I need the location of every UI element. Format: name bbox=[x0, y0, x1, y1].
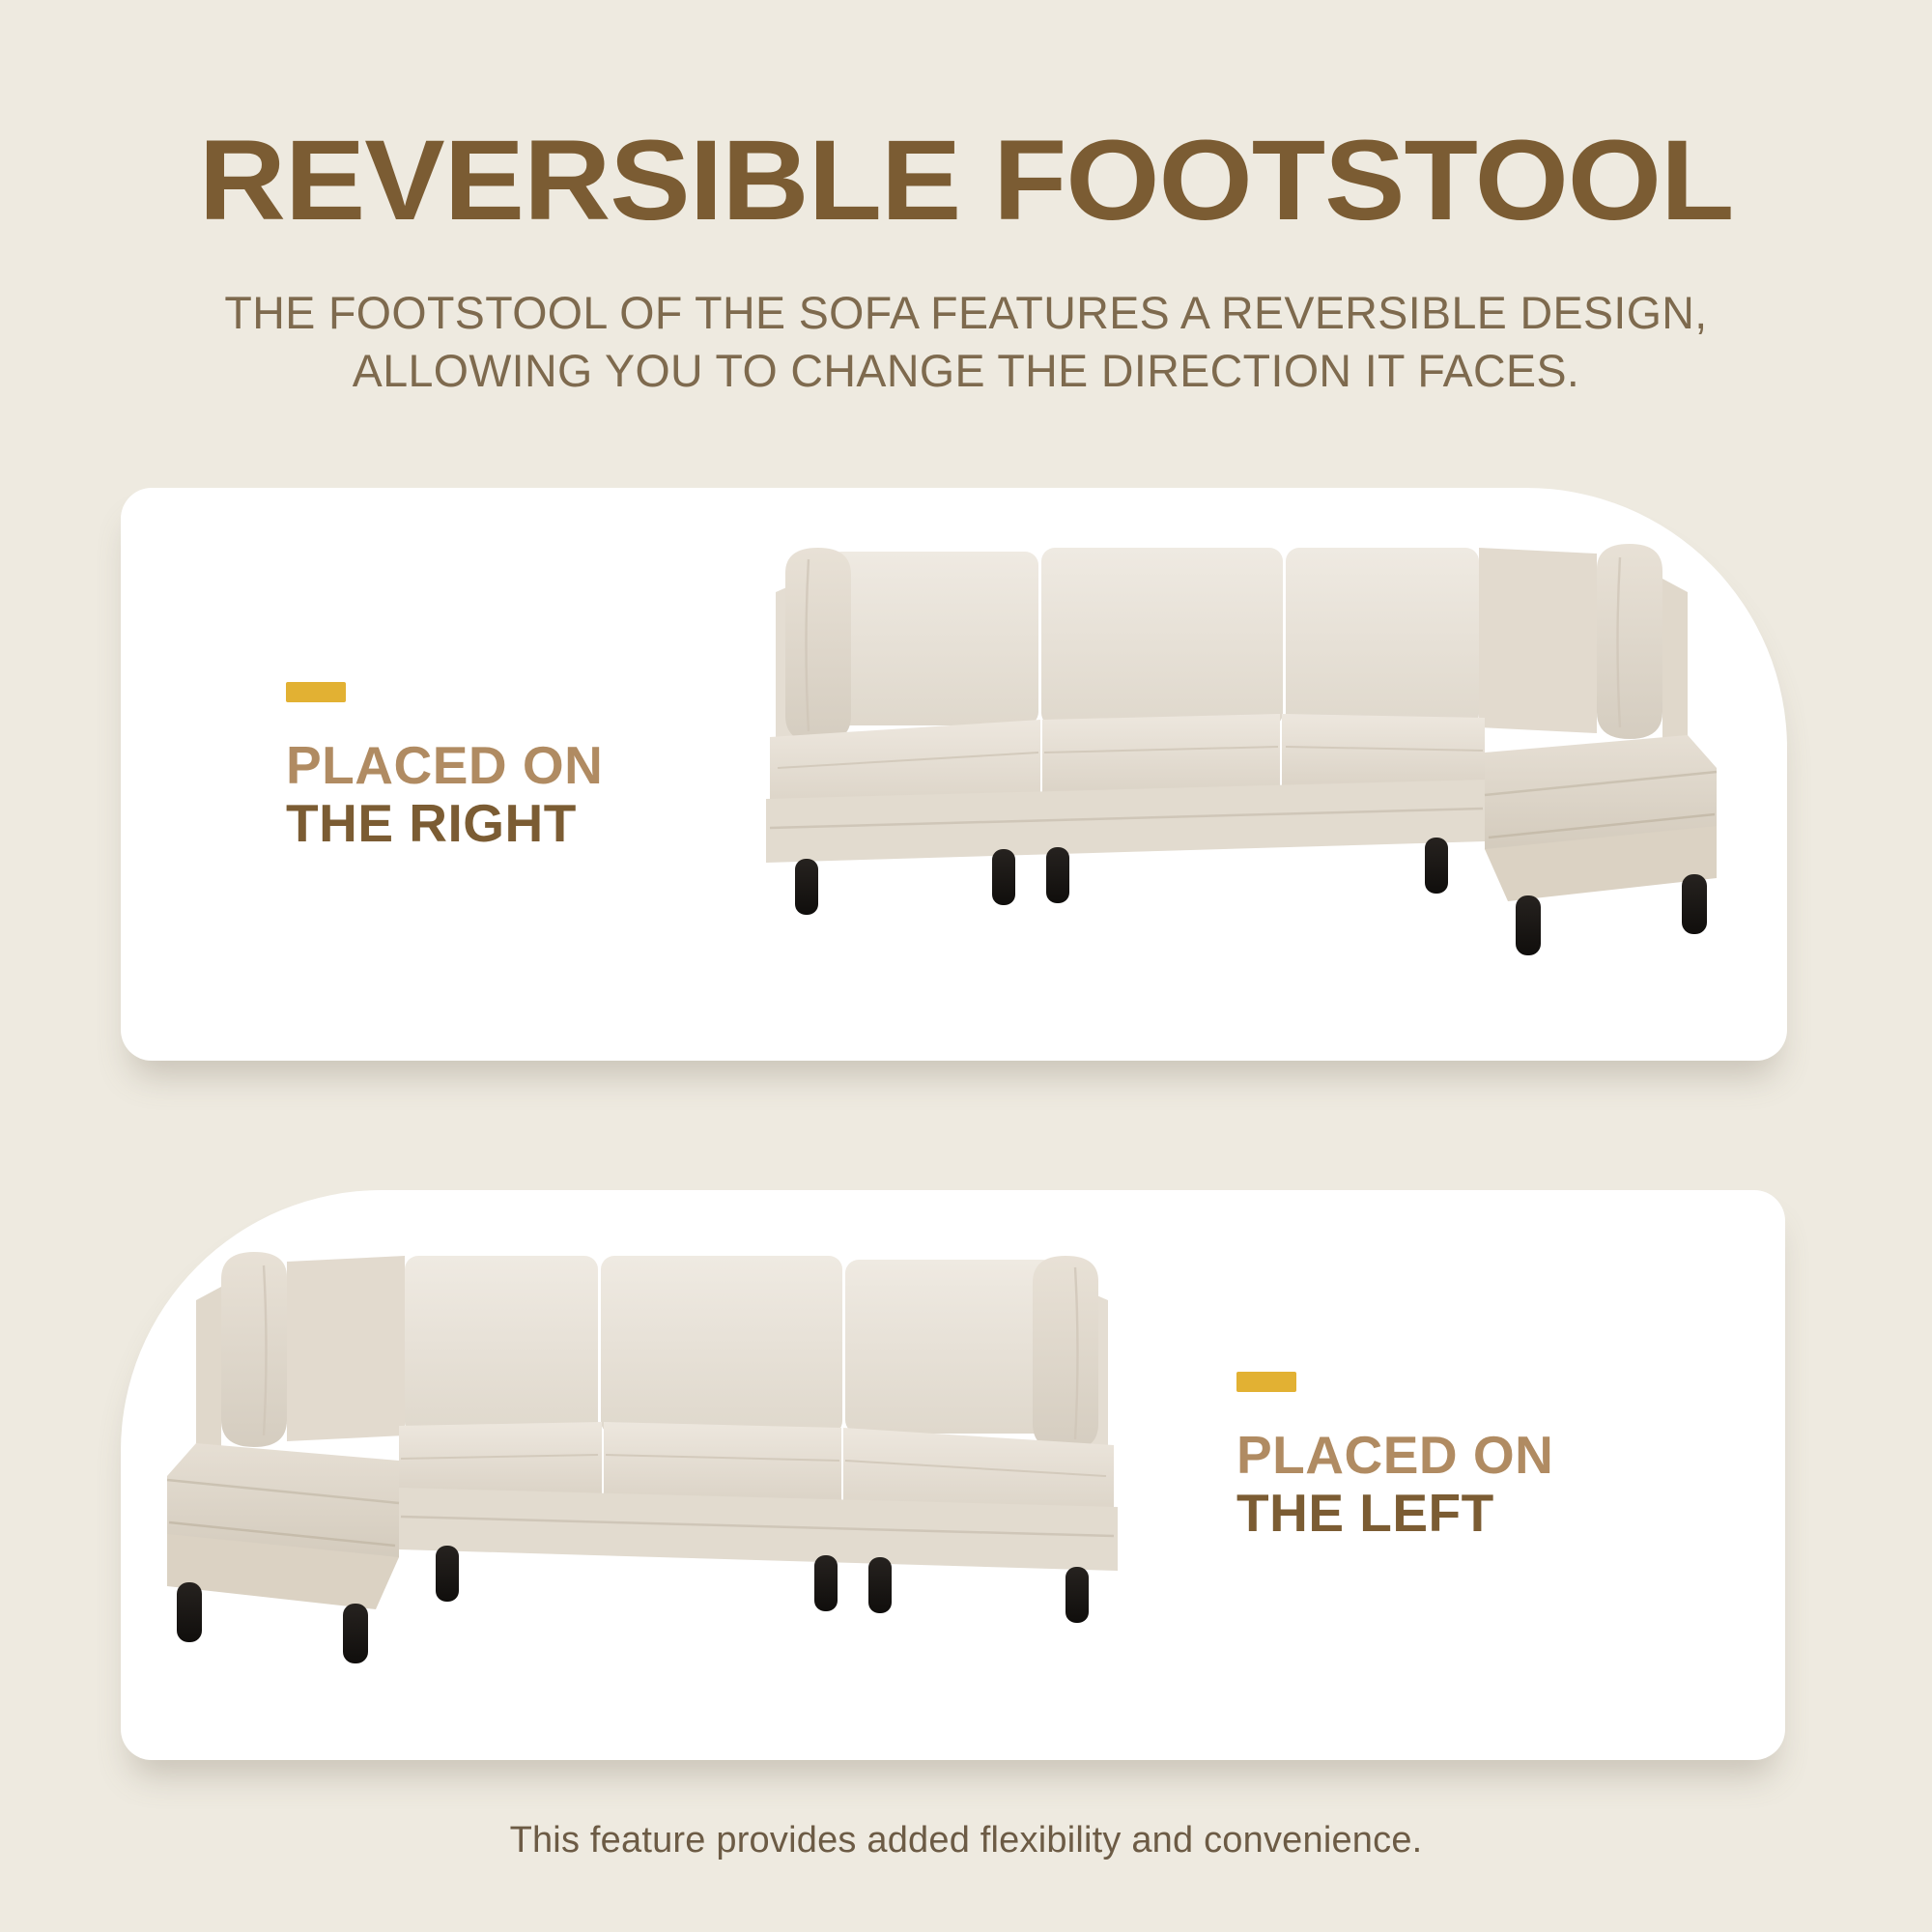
sofa-image-footstool-right bbox=[662, 509, 1724, 1050]
caption-block-right: PLACED ON THE RIGHT bbox=[286, 682, 603, 853]
accent-bar-icon bbox=[1236, 1372, 1296, 1392]
page-title: REVERSIBLE FOOTSTOOL bbox=[0, 124, 1932, 238]
caption-line-2: THE LEFT bbox=[1236, 1485, 1553, 1543]
caption-line-1: PLACED ON bbox=[1236, 1427, 1553, 1485]
sofa-image-footstool-left bbox=[159, 1217, 1222, 1758]
caption-line-1: PLACED ON bbox=[286, 737, 603, 795]
caption-line-2: THE RIGHT bbox=[286, 795, 603, 853]
caption-block-left: PLACED ON THE LEFT bbox=[1236, 1372, 1553, 1543]
card-footstool-left: PLACED ON THE LEFT bbox=[121, 1190, 1785, 1760]
header: REVERSIBLE FOOTSTOOL THE FOOTSTOOL OF TH… bbox=[0, 0, 1932, 400]
accent-bar-icon bbox=[286, 682, 346, 702]
page-subtitle: THE FOOTSTOOL OF THE SOFA FEATURES A REV… bbox=[10, 284, 1922, 400]
footer-note: This feature provides added flexibility … bbox=[0, 1820, 1932, 1861]
subtitle-line-1: THE FOOTSTOOL OF THE SOFA FEATURES A REV… bbox=[10, 284, 1922, 342]
card-footstool-right: PLACED ON THE RIGHT bbox=[121, 488, 1787, 1061]
subtitle-line-2: ALLOWING YOU TO CHANGE THE DIRECTION IT … bbox=[10, 342, 1922, 400]
